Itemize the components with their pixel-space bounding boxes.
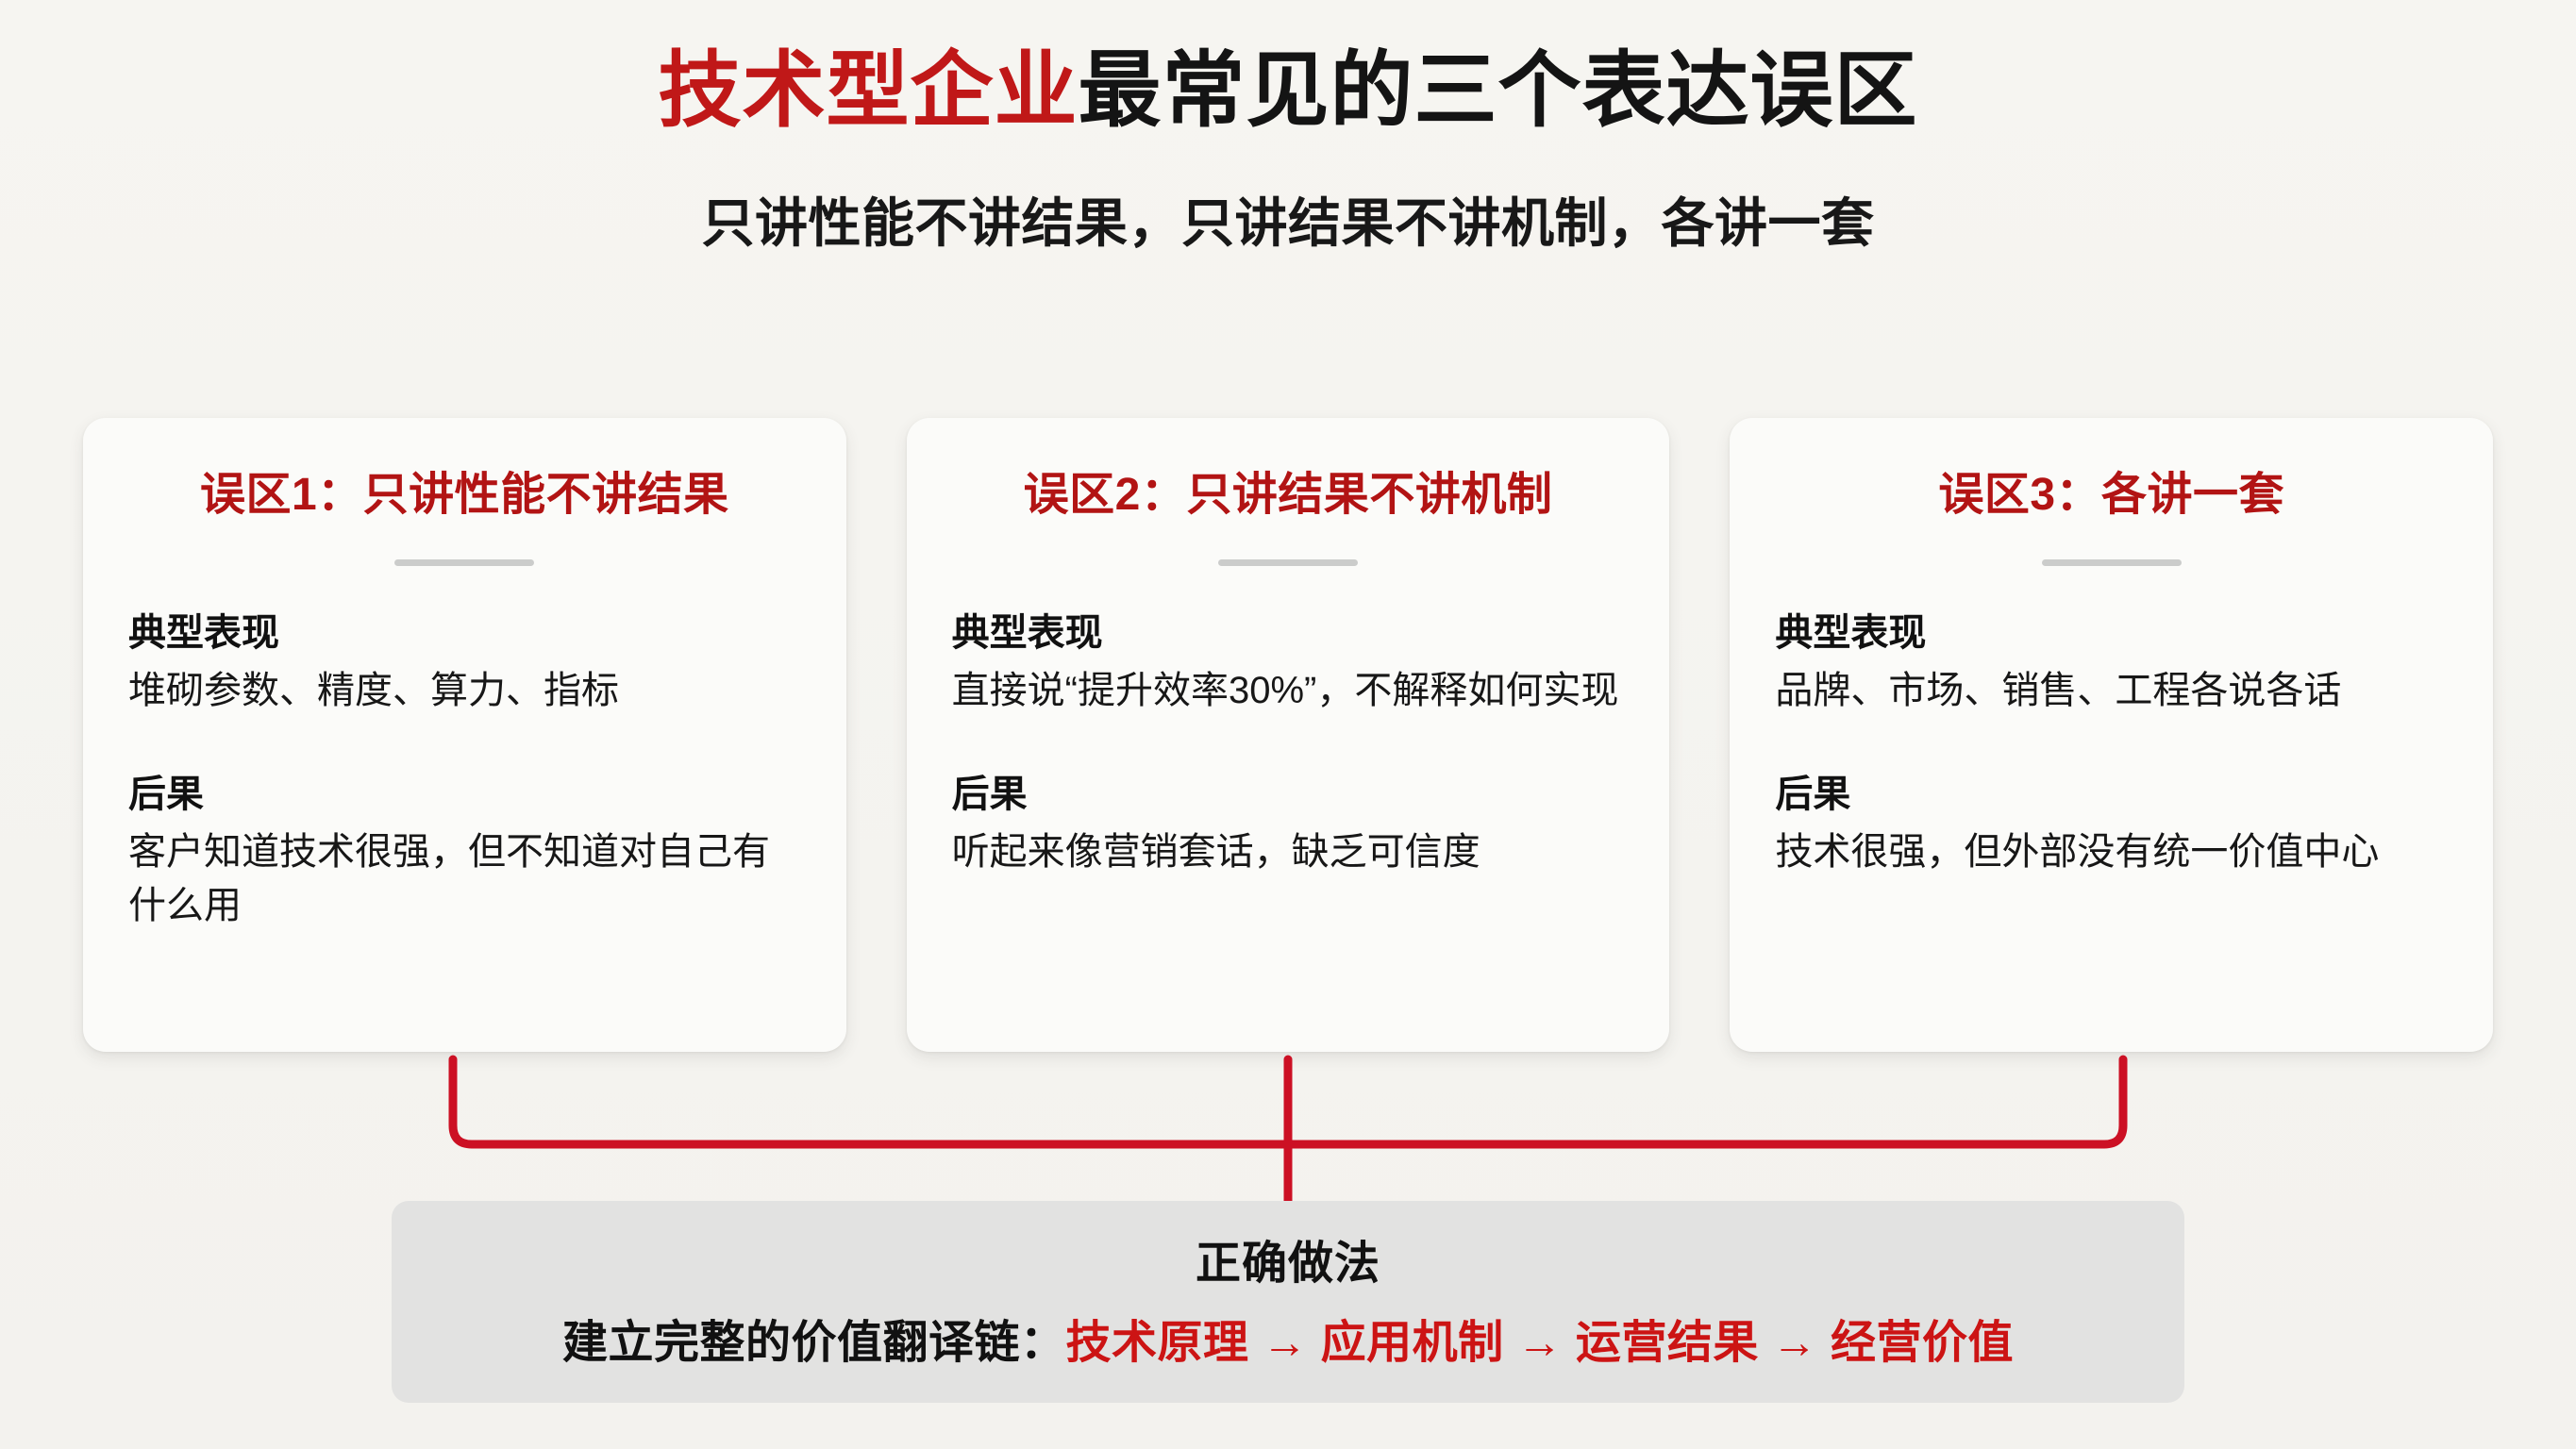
card-title: 误区2：只讲结果不讲机制 bbox=[952, 467, 1625, 524]
symptom-label: 典型表现 bbox=[952, 608, 1625, 658]
symptom-text: 堆砌参数、精度、算力、指标 bbox=[128, 664, 801, 718]
symptom-text: 直接说“提升效率30%”，不解释如何实现 bbox=[952, 664, 1625, 718]
cards-row: 误区1：只讲性能不讲结果 典型表现 堆砌参数、精度、算力、指标 后果 客户知道技… bbox=[83, 418, 2493, 1052]
page-title-accent: 技术型企业 bbox=[658, 43, 1078, 137]
card-pitfall-3: 误区3：各讲一套 典型表现 品牌、市场、销售、工程各说各话 后果 技术很强，但外… bbox=[1730, 418, 2493, 1052]
block-spacer bbox=[952, 718, 1625, 769]
symptom-label: 典型表现 bbox=[128, 608, 801, 658]
footer-correct-approach: 正确做法 建立完整的价值翻译链：技术原理 → 应用机制 → 运营结果 → 经营价… bbox=[392, 1201, 2184, 1403]
consequence-text: 技术很强，但外部没有统一价值中心 bbox=[1775, 825, 2448, 879]
footer-chain: 建立完整的价值翻译链：技术原理 → 应用机制 → 运营结果 → 经营价值 bbox=[429, 1305, 2147, 1371]
card-divider bbox=[1218, 559, 1358, 566]
consequence-label: 后果 bbox=[952, 769, 1625, 820]
consequence-text: 客户知道技术很强，但不知道对自己有什么用 bbox=[128, 825, 801, 933]
page-title-rest: 最常见的三个表达误区 bbox=[1079, 43, 1918, 137]
consequence-label: 后果 bbox=[1775, 769, 2448, 820]
footer-chain-prefix: 建立完整的价值翻译链： bbox=[562, 1318, 1066, 1368]
card-pitfall-2: 误区2：只讲结果不讲机制 典型表现 直接说“提升效率30%”，不解释如何实现 后… bbox=[907, 418, 1670, 1052]
card-divider bbox=[394, 559, 534, 566]
block-spacer bbox=[1775, 718, 2448, 769]
page-title: 技术型企业最常见的三个表达误区 bbox=[0, 42, 2576, 140]
connector-horizontal-bracket bbox=[453, 1059, 2123, 1144]
page-subtitle: 只讲性能不讲结果，只讲结果不讲机制，各讲一套 bbox=[0, 181, 2576, 258]
slide-root: 技术型企业最常见的三个表达误区 只讲性能不讲结果，只讲结果不讲机制，各讲一套 误… bbox=[0, 0, 2576, 1449]
card-title: 误区3：各讲一套 bbox=[1775, 467, 2448, 524]
slide-header: 技术型企业最常见的三个表达误区 只讲性能不讲结果，只讲结果不讲机制，各讲一套 bbox=[0, 0, 2576, 258]
card-title: 误区1：只讲性能不讲结果 bbox=[128, 467, 801, 524]
card-divider bbox=[2042, 559, 2182, 566]
footer-chain-value: 技术原理 → 应用机制 → 运营结果 → 经营价值 bbox=[1065, 1318, 2014, 1368]
card-pitfall-1: 误区1：只讲性能不讲结果 典型表现 堆砌参数、精度、算力、指标 后果 客户知道技… bbox=[83, 418, 846, 1052]
symptom-text: 品牌、市场、销售、工程各说各话 bbox=[1775, 664, 2448, 718]
consequence-label: 后果 bbox=[128, 769, 801, 820]
footer-title: 正确做法 bbox=[429, 1225, 2147, 1291]
symptom-label: 典型表现 bbox=[1775, 608, 2448, 658]
block-spacer bbox=[128, 718, 801, 769]
consequence-text: 听起来像营销套话，缺乏可信度 bbox=[952, 825, 1625, 879]
